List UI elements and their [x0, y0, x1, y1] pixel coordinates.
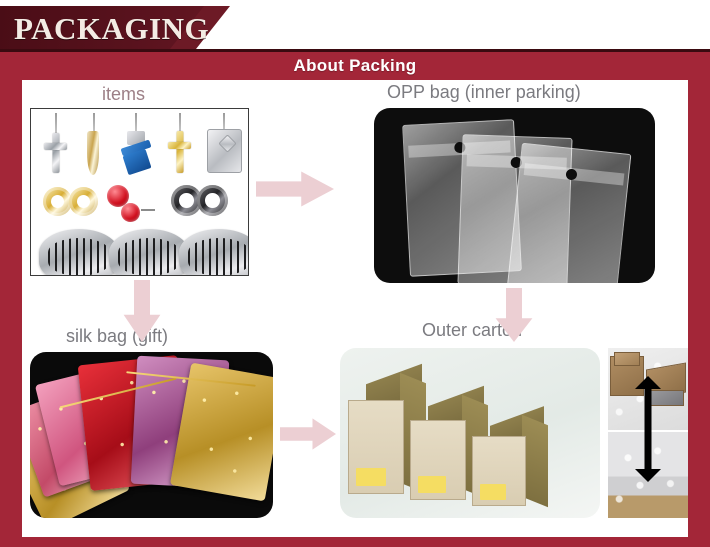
arrow-items-to-opp-bag	[256, 170, 334, 208]
items-label: items	[102, 84, 145, 105]
silk-bag-label: silk bag (gift)	[66, 326, 168, 347]
silk-bag-photo	[30, 352, 273, 518]
page-header: PACKAGING	[0, 0, 710, 52]
opp-bag-photo	[374, 108, 655, 283]
jewellery-items-photo	[30, 108, 249, 276]
arrow-silk-bag-to-outer-carton	[280, 417, 336, 451]
packaging-infographic: PACKAGING About Packing items	[0, 0, 710, 547]
content-frame: About Packing items	[0, 52, 710, 547]
section-subtitle: About Packing	[0, 52, 710, 80]
opp-bag-label: OPP bag (inner parking)	[387, 82, 581, 103]
diagram-canvas: items	[22, 80, 688, 537]
bubble-wrap-thickness-arrow	[635, 376, 661, 482]
carton-box	[472, 416, 544, 506]
outer-carton-photo	[340, 348, 600, 518]
page-title: PACKAGING	[14, 8, 204, 48]
